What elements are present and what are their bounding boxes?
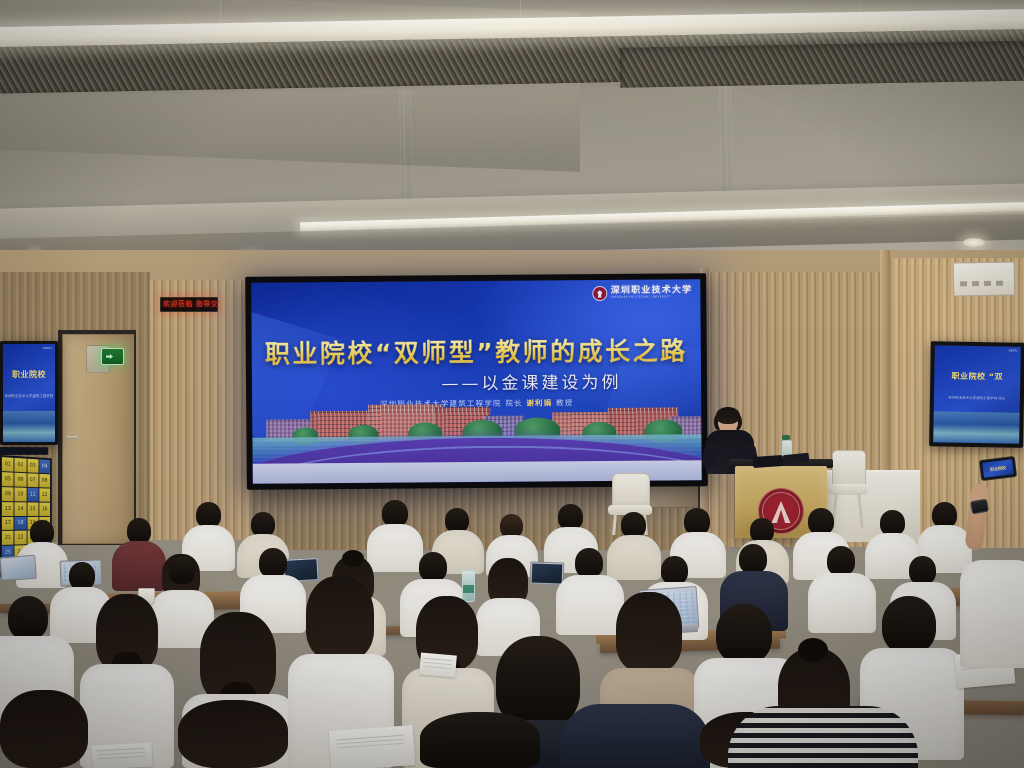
notepad xyxy=(329,725,416,768)
control-panel-buttons xyxy=(960,281,1008,287)
locker-cell[interactable]: 02 xyxy=(15,458,26,472)
notepad xyxy=(419,652,457,677)
locker-cell[interactable]: 21 xyxy=(2,531,14,545)
locker-cell[interactable]: 18 xyxy=(15,516,26,530)
wall-slats-left-mid xyxy=(150,280,250,540)
locker-cell[interactable]: 14 xyxy=(15,502,26,516)
microphone xyxy=(753,455,784,468)
led-board-text: 欢迎莅临 指导交流 xyxy=(163,299,218,309)
ceiling-grille-right xyxy=(620,40,1024,87)
laptop-screen[interactable] xyxy=(0,555,37,581)
locker-cell[interactable]: 07 xyxy=(27,473,38,487)
smartphone-camera[interactable]: 职业院校 xyxy=(979,456,1017,481)
side-monitor-right: SZPU 职业院校 “双 深圳职业技术大学建筑工程学院 院长 xyxy=(929,341,1024,448)
locker-cell[interactable]: 12 xyxy=(39,488,50,501)
door-handle[interactable] xyxy=(66,436,78,439)
phone-preview-title: 职业院校 xyxy=(983,464,1014,474)
slide-university-logo: 深圳职业技术大学 SHENZHEN POLYTECHNIC UNIVERSITY xyxy=(593,285,693,301)
laptop-screen[interactable] xyxy=(530,561,565,585)
side-monitor-right-photo-band xyxy=(933,411,1020,444)
chair-backrest xyxy=(612,473,650,509)
locker-cell[interactable]: 05 xyxy=(2,472,14,486)
led-info-board: 欢迎莅临 指导交流 xyxy=(160,297,218,312)
chair-leg xyxy=(612,515,617,535)
slide-title: 职业院校“双师型”教师的成长之路 xyxy=(252,331,701,371)
locker-cell[interactable]: 13 xyxy=(2,502,14,516)
stool-backrest xyxy=(832,450,866,488)
locker-cell[interactable]: 01 xyxy=(2,457,14,471)
lecture-hall-photo: 欢迎莅临 指导交流 SZPU 职业院校 深圳职业技术大学建筑工程学院 SZPU … xyxy=(0,0,1024,768)
locker-cell[interactable]: 08 xyxy=(39,474,50,488)
locker-cell[interactable]: 11 xyxy=(27,488,38,502)
speaker-hair xyxy=(716,407,740,424)
side-monitor-left-photo-band xyxy=(3,411,55,442)
slide-canvas: 深圳职业技术大学 SHENZHEN POLYTECHNIC UNIVERSITY… xyxy=(251,279,702,484)
side-monitor-left-title: 职业院校 xyxy=(3,369,55,380)
locker-cell[interactable]: 03 xyxy=(27,459,38,473)
wall-control-panel[interactable] xyxy=(953,261,1016,296)
university-crest-icon xyxy=(593,286,608,301)
slide-subtitle: ——以金课建设为例 xyxy=(252,367,701,396)
locker-cell[interactable]: 10 xyxy=(15,487,26,501)
emergency-exit-icon xyxy=(101,348,124,365)
slide-logo-english: SHENZHEN POLYTECHNIC UNIVERSITY xyxy=(611,297,693,300)
side-monitor-right-subtitle: 深圳职业技术大学建筑工程学院 院长 xyxy=(934,394,1020,401)
locker-cell[interactable]: 09 xyxy=(2,487,14,501)
locker-cell[interactable]: 22 xyxy=(15,531,26,545)
side-monitor-left: SZPU 职业院校 深圳职业技术大学建筑工程学院 xyxy=(0,341,58,445)
ceiling-panel xyxy=(0,88,413,212)
locker-cell[interactable]: 06 xyxy=(15,473,26,487)
locker-cell[interactable]: 16 xyxy=(39,502,50,515)
notepad xyxy=(91,742,152,768)
locker-cell[interactable]: 04 xyxy=(39,459,50,473)
water-bottle xyxy=(462,570,475,602)
side-monitor-left-logo: SZPU xyxy=(43,346,52,350)
downlight xyxy=(963,238,985,247)
main-led-screen: 深圳职业技术大学 SHENZHEN POLYTECHNIC UNIVERSITY… xyxy=(245,273,708,490)
side-monitor-right-title: 职业院校 “双 xyxy=(934,370,1020,382)
locker-cell[interactable]: 15 xyxy=(27,502,38,515)
side-monitor-right-logo: SZPU xyxy=(1009,349,1018,353)
phone-screen: 职业院校 xyxy=(982,459,1014,478)
locker-cell[interactable]: 17 xyxy=(2,516,14,530)
stool-leg xyxy=(857,494,864,528)
side-monitor-left-subtitle: 深圳职业技术大学建筑工程学院 xyxy=(3,393,55,398)
locker-header xyxy=(0,447,48,455)
